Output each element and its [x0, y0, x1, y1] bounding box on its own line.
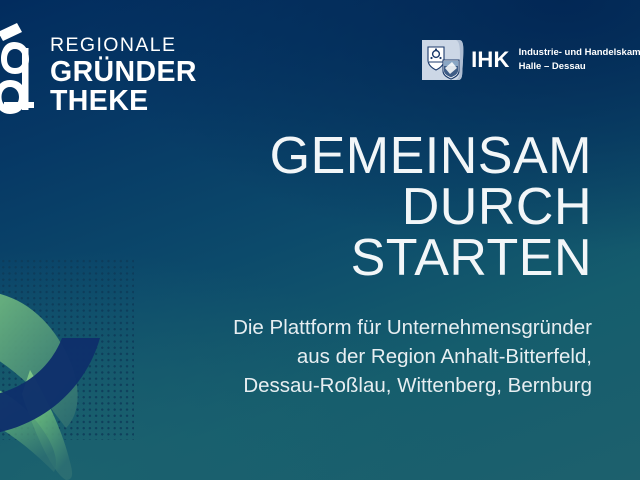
subtitle: Die Plattform für Unternehmensgründer au…	[233, 313, 592, 400]
brand-lockup: REGIONALE GRÜNDER THEKE	[0, 18, 197, 118]
hero-banner: REGIONALE GRÜNDER THEKE	[0, 0, 640, 480]
brand-line-gruender: GRÜNDER	[50, 58, 197, 87]
headline-line-3: STARTEN	[270, 233, 592, 284]
headline-line-2: DURCH	[270, 182, 592, 233]
decorative-artwork	[0, 180, 230, 480]
ihk-name-line2: Halle – Dessau	[519, 60, 640, 74]
ihk-name-line1: Industrie- und Handelskammer	[519, 46, 640, 60]
ihk-logo-lockup: IHK Industrie- und Handelskammer Halle –…	[419, 38, 640, 82]
brand-wordmark: REGIONALE GRÜNDER THEKE	[50, 18, 197, 116]
gruenderin-figure-icon	[0, 18, 42, 118]
brand-line-regionale: REGIONALE	[50, 36, 197, 56]
brand-line-theke: THEKE	[50, 87, 197, 116]
headline-line-1: GEMEINSAM	[270, 131, 592, 182]
ihk-abbreviation: IHK	[471, 47, 510, 73]
ihk-full-name: Industrie- und Handelskammer Halle – Des…	[519, 46, 640, 74]
subtitle-line-2: aus der Region Anhalt-Bitterfeld,	[233, 342, 592, 371]
subtitle-line-1: Die Plattform für Unternehmensgründer	[233, 313, 592, 342]
ihk-coat-of-arms-icon	[419, 38, 467, 82]
headline: GEMEINSAM DURCH STARTEN	[270, 131, 592, 285]
subtitle-line-3: Dessau-Roßlau, Wittenberg, Bernburg	[233, 371, 592, 400]
